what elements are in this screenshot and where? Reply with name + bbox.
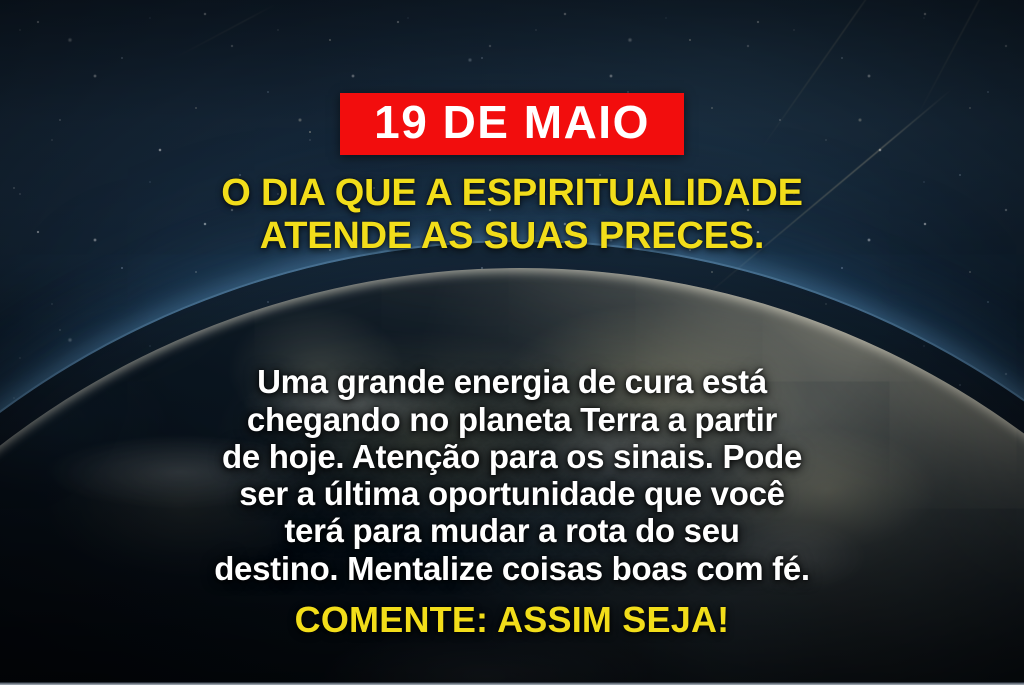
body-line-3: de hoje. Atenção para os sinais. Pode [72, 438, 952, 475]
headline-line-1: O DIA QUE A ESPIRITUALIDADE [221, 172, 803, 215]
date-banner-label: 19 DE MAIO [374, 99, 650, 145]
poster-content: 19 DE MAIO O DIA QUE A ESPIRITUALIDADE A… [0, 0, 1024, 685]
body-paragraph: Uma grande energia de cura está chegando… [72, 363, 952, 587]
body-line-6: destino. Mentalize coisas boas com fé. [72, 550, 952, 587]
call-to-action-text: COMENTE: ASSIM SEJA! [295, 599, 730, 641]
poster-canvas: 19 DE MAIO O DIA QUE A ESPIRITUALIDADE A… [0, 0, 1024, 685]
page-title: O DIA QUE A ESPIRITUALIDADE ATENDE AS SU… [181, 172, 843, 259]
date-banner: 19 DE MAIO [340, 93, 684, 155]
body-line-5: terá para mudar a rota do seu [72, 512, 952, 549]
body-line-4: ser a última oportunidade que você [72, 475, 952, 512]
body-line-2: chegando no planeta Terra a partir [72, 401, 952, 438]
headline-line-2: ATENDE AS SUAS PRECES. [221, 215, 803, 258]
body-line-1: Uma grande energia de cura está [72, 363, 952, 400]
